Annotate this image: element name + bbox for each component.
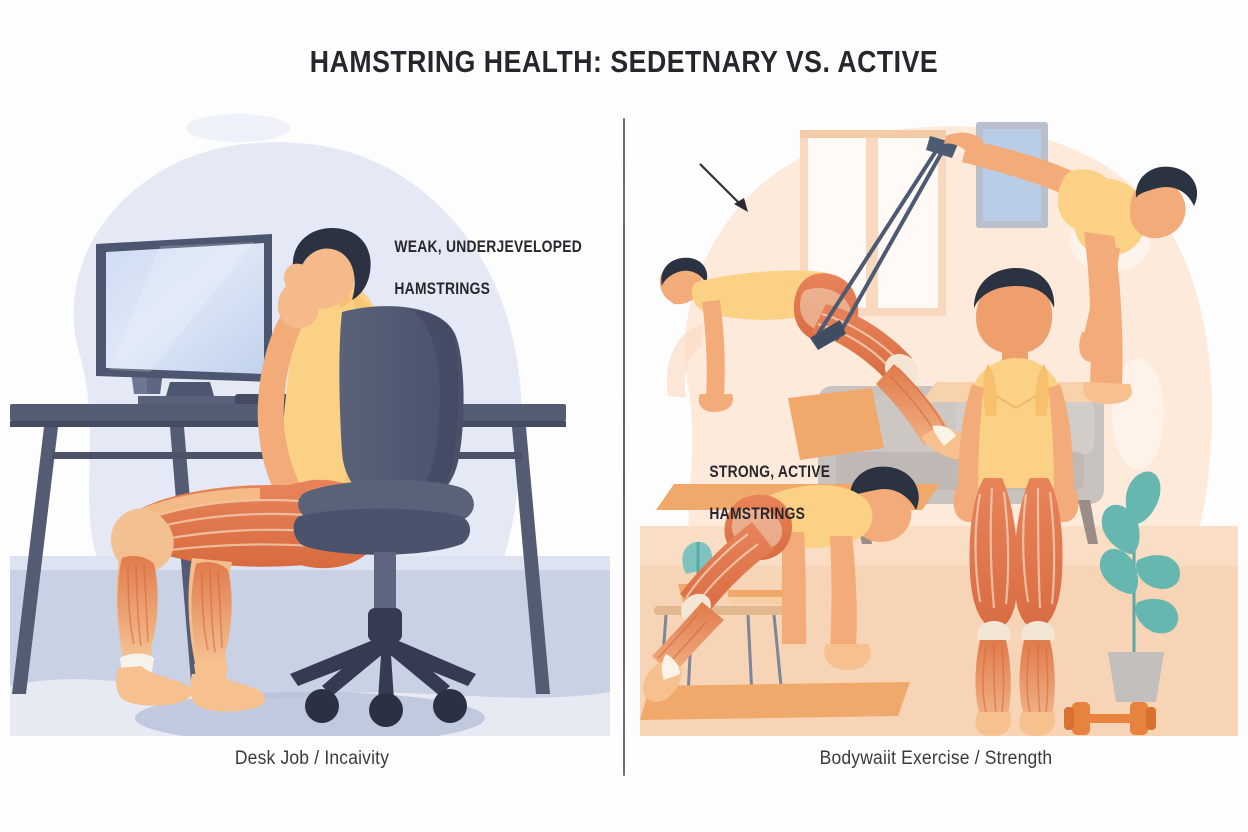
- right-caption: Bodywaiit Exercise / Strength: [649, 748, 1223, 770]
- right-panel-illustration: [640, 96, 1238, 736]
- right-annotation-line1: STRONG, ACTIVE: [709, 463, 830, 481]
- infographic-canvas: HAMSTRING HEALTH: SEDETNARY VS. ACTIVE: [0, 0, 1248, 832]
- yoga-mat-bottom: [640, 682, 910, 720]
- left-annotation-line2: HAMSTRINGS: [394, 280, 490, 298]
- left-annotation: WEAK, UNDERJEVELOPED HAMSTRINGS: [378, 216, 582, 321]
- vertical-divider: [623, 118, 625, 776]
- left-panel-illustration: [10, 96, 610, 736]
- right-annotation: STRONG, ACTIVE HAMSTRINGS: [693, 441, 830, 546]
- page-title: HAMSTRING HEALTH: SEDETNARY VS. ACTIVE: [87, 44, 1160, 80]
- right-annotation-line2: HAMSTRINGS: [709, 505, 805, 523]
- left-caption: Desk Job / Incaivity: [25, 748, 599, 770]
- left-annotation-line1: WEAK, UNDERJEVELOPED: [394, 238, 582, 256]
- annotation-arrow-right: [700, 164, 748, 212]
